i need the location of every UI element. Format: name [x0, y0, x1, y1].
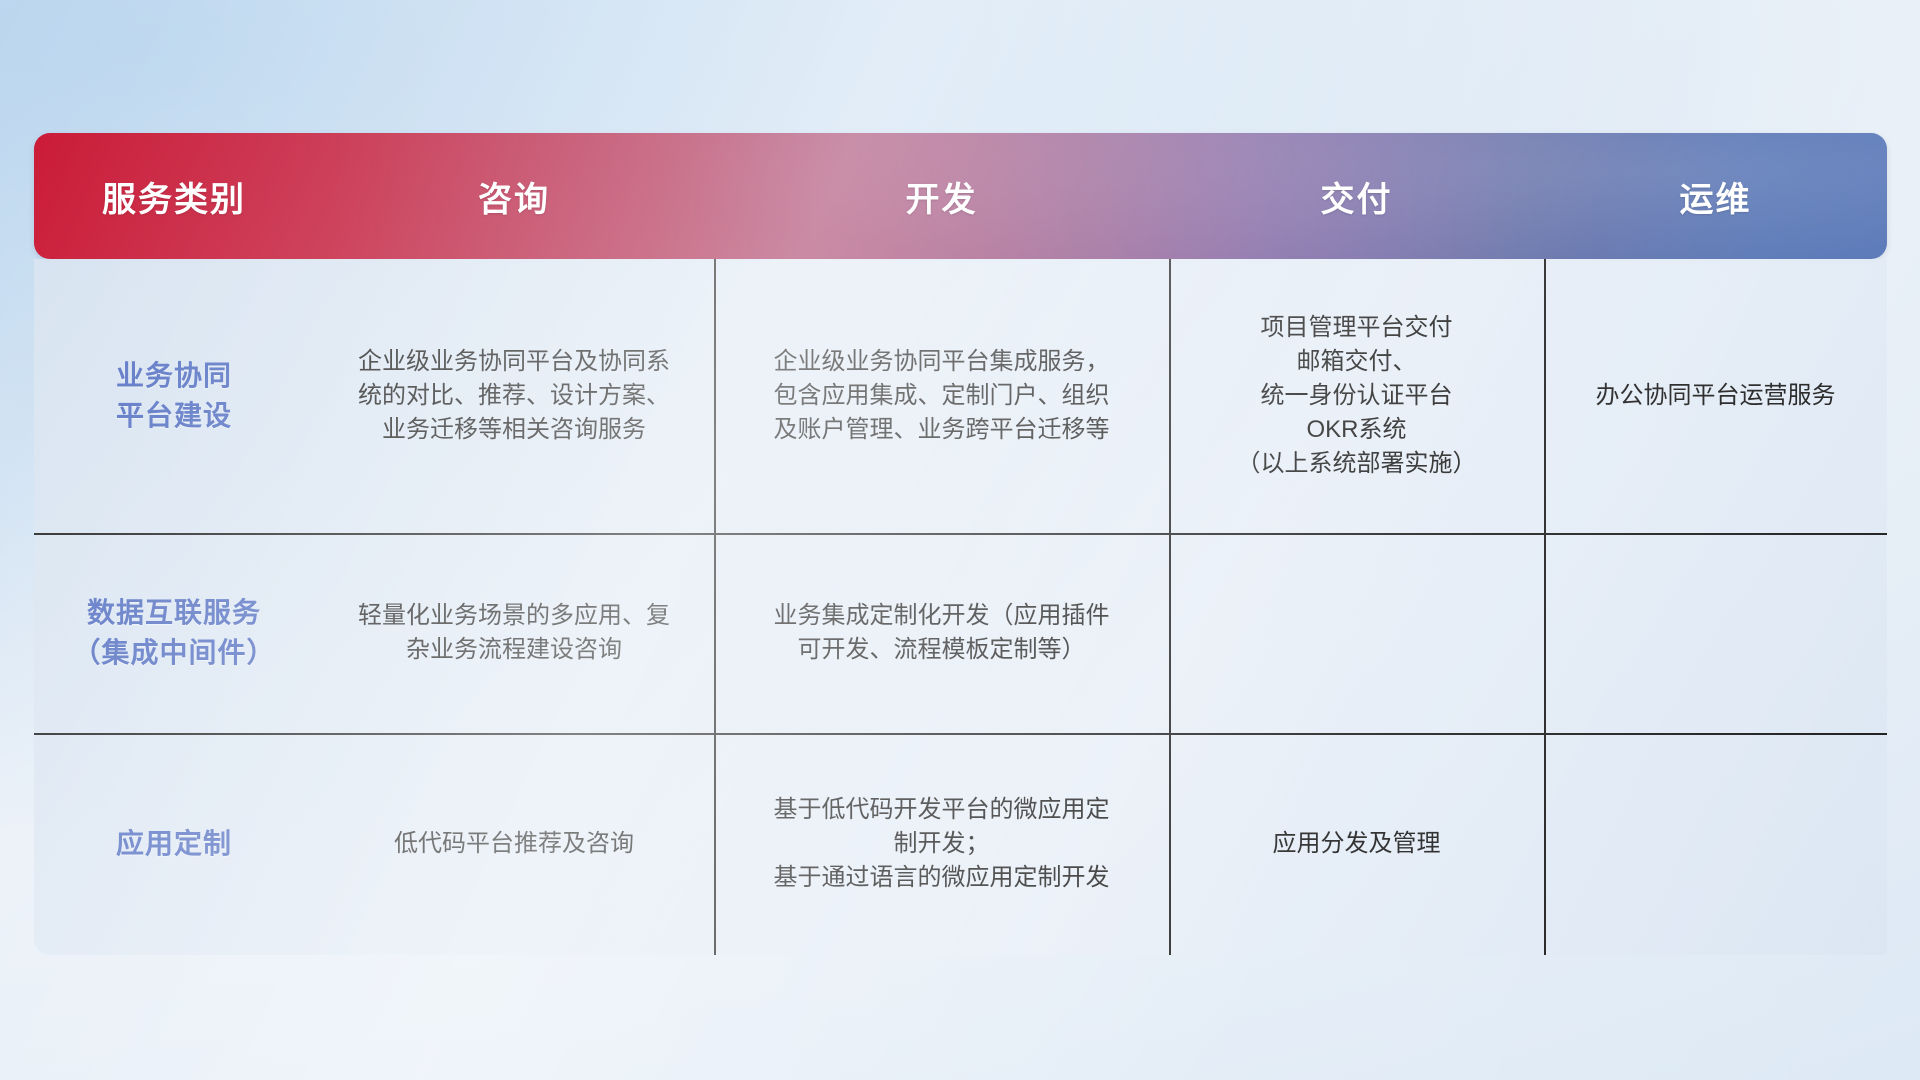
column-header-development: 开发: [714, 172, 1169, 221]
cell-development: 业务集成定制化开发（应用插件 可开发、流程模板定制等）: [714, 533, 1169, 733]
cell-operations: [1544, 533, 1887, 733]
cell-development: 企业级业务协同平台集成服务， 包含应用集成、定制门户、组织 及账户管理、业务跨平…: [714, 259, 1169, 533]
table-row: 业务协同 平台建设 企业级业务协同平台及协同系 统的对比、推荐、设计方案、 业务…: [34, 259, 1887, 533]
cell-delivery: 项目管理平台交付 邮箱交付、 统一身份认证平台 OKR系统 （以上系统部署实施）: [1169, 259, 1544, 533]
table-row: 数据互联服务 （集成中间件） 轻量化业务场景的多应用、复 杂业务流程建设咨询 业…: [34, 533, 1887, 733]
cell-consulting: 低代码平台推荐及咨询: [314, 733, 714, 955]
table-body: 业务协同 平台建设 企业级业务协同平台及协同系 统的对比、推荐、设计方案、 业务…: [34, 259, 1887, 955]
column-header-consulting: 咨询: [314, 172, 714, 221]
cell-delivery: [1169, 533, 1544, 733]
cell-operations: [1544, 733, 1887, 955]
column-header-delivery: 交付: [1169, 172, 1544, 221]
column-header-service-category: 服务类别: [34, 172, 314, 221]
row-category-label: 业务协同 平台建设: [34, 259, 314, 533]
cell-delivery: 应用分发及管理: [1169, 733, 1544, 955]
cell-consulting: 企业级业务协同平台及协同系 统的对比、推荐、设计方案、 业务迁移等相关咨询服务: [314, 259, 714, 533]
cell-development: 基于低代码开发平台的微应用定 制开发； 基于通过语言的微应用定制开发: [714, 733, 1169, 955]
table-header-row: 服务类别 咨询 开发 交付 运维: [34, 133, 1887, 259]
table-row: 应用定制 低代码平台推荐及咨询 基于低代码开发平台的微应用定 制开发； 基于通过…: [34, 733, 1887, 955]
page-root: 服务类别 咨询 开发 交付 运维 业务协同 平台建设 企业级业务协同平台及协同系…: [0, 0, 1920, 1080]
column-header-operations: 运维: [1544, 172, 1887, 221]
service-matrix-table: 服务类别 咨询 开发 交付 运维 业务协同 平台建设 企业级业务协同平台及协同系…: [34, 133, 1887, 955]
row-category-label: 数据互联服务 （集成中间件）: [34, 533, 314, 733]
row-category-label: 应用定制: [34, 733, 314, 955]
cell-consulting: 轻量化业务场景的多应用、复 杂业务流程建设咨询: [314, 533, 714, 733]
cell-operations: 办公协同平台运营服务: [1544, 259, 1887, 533]
